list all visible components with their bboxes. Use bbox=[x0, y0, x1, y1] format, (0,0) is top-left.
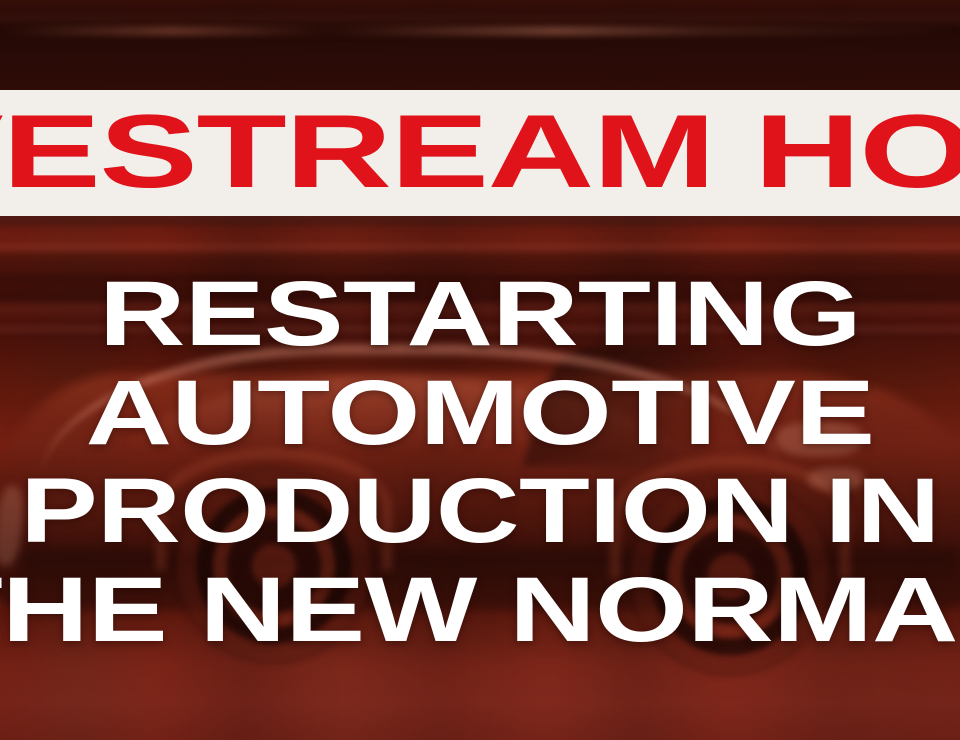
headline-line-3: PRODUCTION IN bbox=[0, 469, 960, 554]
livestream-promo-poster: LIVESTREAM HOUR RESTARTING AUTOMOTIVE PR… bbox=[0, 0, 960, 740]
headline-block: RESTARTING AUTOMOTIVE PRODUCTION IN THE … bbox=[0, 272, 960, 653]
headline-line-1: RESTARTING bbox=[0, 272, 960, 357]
livestream-hour-banner: LIVESTREAM HOUR bbox=[0, 90, 960, 216]
headline-line-4: THE NEW NORMAL bbox=[0, 568, 960, 653]
top-dark-band bbox=[0, 0, 960, 92]
livestream-hour-label: LIVESTREAM HOUR bbox=[0, 100, 960, 204]
headline-line-2: AUTOMOTIVE bbox=[0, 371, 960, 456]
top-band-glint bbox=[0, 26, 960, 36]
